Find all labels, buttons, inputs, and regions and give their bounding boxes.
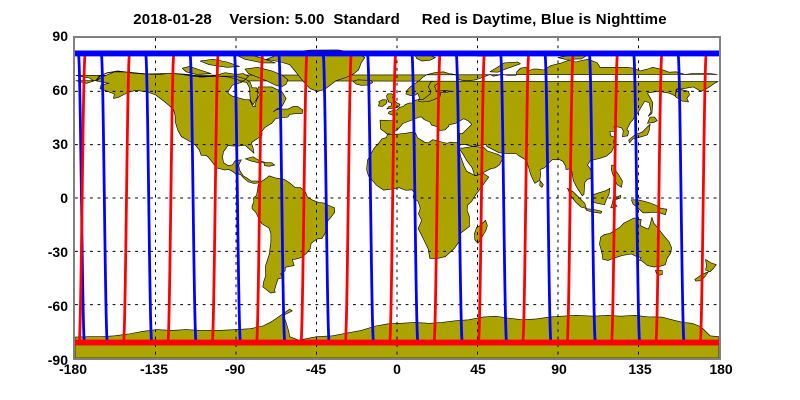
ground-track-daytime (656, 53, 662, 342)
world-map (75, 38, 719, 358)
landmass (540, 181, 544, 188)
landmass (252, 176, 335, 293)
plot-area (73, 36, 721, 360)
landmass (706, 259, 717, 271)
page-title: 2018-01-28 Version: 5.00 Standard Red is… (0, 11, 800, 28)
x-tick-label: -45 (306, 361, 326, 377)
y-tick-label: 0 (60, 190, 68, 206)
landmass (629, 124, 650, 143)
landmass (264, 162, 275, 166)
x-tick-label: 90 (551, 361, 567, 377)
landmass (600, 217, 672, 267)
y-tick-label: 90 (52, 28, 68, 44)
landmass (592, 188, 610, 205)
landmass (647, 117, 657, 123)
y-tick-label: -60 (48, 298, 68, 314)
plot-frame (73, 36, 721, 360)
x-tick-label: 135 (628, 361, 651, 377)
y-axis-ticks: -90-60-300306090 (0, 36, 68, 360)
y-tick-label: -30 (48, 244, 68, 260)
x-axis-ticks: -180-135-90-4504590135180 (73, 361, 721, 383)
x-tick-label: 45 (470, 361, 486, 377)
landmass (611, 165, 622, 187)
x-tick-label: 180 (709, 361, 732, 377)
landmass (378, 100, 387, 107)
landmass (182, 66, 211, 74)
x-tick-label: 0 (393, 361, 401, 377)
x-tick-label: -90 (225, 361, 245, 377)
x-tick-label: -135 (140, 361, 168, 377)
landmass (490, 62, 520, 72)
x-tick-label: -180 (59, 361, 87, 377)
ground-track-figure: 2018-01-28 Version: 5.00 Standard Red is… (0, 0, 800, 400)
y-tick-label: 60 (52, 82, 68, 98)
y-tick-label: 30 (52, 136, 68, 152)
